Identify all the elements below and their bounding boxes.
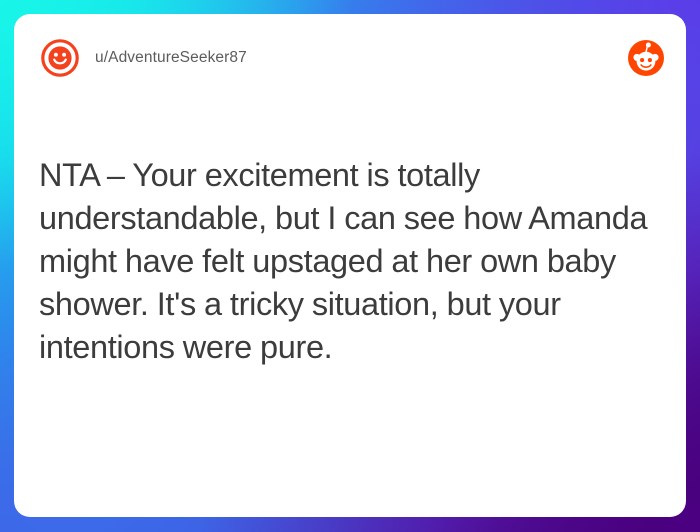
smiley-face-avatar-icon[interactable] (40, 38, 80, 78)
post-text: NTA – Your excitement is totally underst… (39, 154, 648, 369)
reddit-snoo-icon[interactable] (628, 40, 664, 76)
post-body: NTA – Your excitement is totally underst… (14, 102, 686, 517)
screenshot-stage: u/AdventureSeeker87 NTA – Your excitemen… (0, 0, 700, 532)
reddit-post-card: u/AdventureSeeker87 NTA – Your excitemen… (14, 14, 686, 517)
post-author-username[interactable]: u/AdventureSeeker87 (95, 49, 247, 67)
post-header: u/AdventureSeeker87 (14, 14, 686, 102)
